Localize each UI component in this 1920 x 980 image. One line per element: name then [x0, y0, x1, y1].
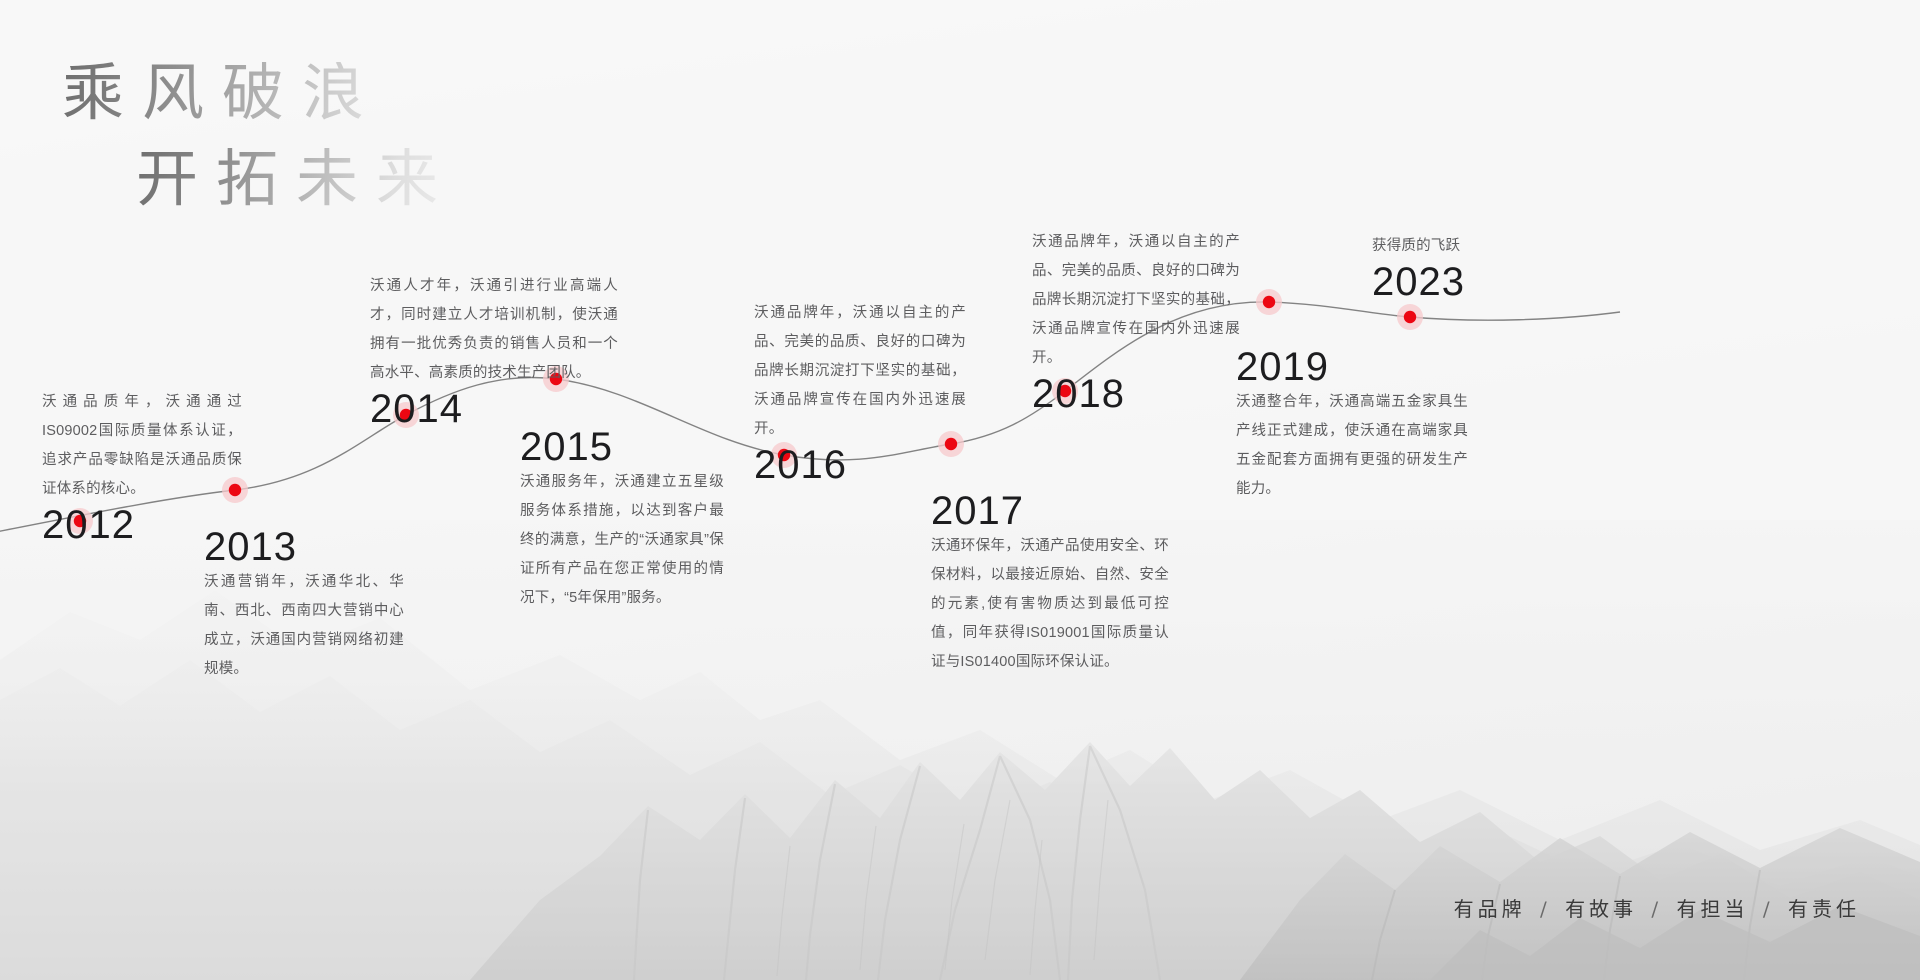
marker-dot[interactable]: [1263, 296, 1275, 308]
entry-description: 沃通服务年，沃通建立五星级服务体系措施，以达到客户最终的满意，生产的“沃通家具”…: [520, 468, 724, 613]
entry-description: 沃通营销年，沃通华北、华南、西北、西南四大营销中心成立，沃通国内营销网络初建规模…: [204, 568, 404, 684]
marker-dot[interactable]: [1404, 311, 1416, 323]
footer-slogan: 有品牌 / 有故事 / 有担当 / 有责任: [1454, 893, 1860, 922]
entry-description: 沃通整合年，沃通高端五金家具生产线正式建成，使沃通在高端家具五金配套方面拥有更强…: [1236, 388, 1468, 504]
timeline-entry-2019[interactable]: 2019沃通整合年，沃通高端五金家具生产线正式建成，使沃通在高端家具五金配套方面…: [1236, 340, 1468, 510]
entry-year-label: 2013: [204, 526, 404, 568]
entry-year-label: 2015: [520, 426, 724, 468]
slogan-separator-2: /: [1763, 897, 1774, 921]
page-title: 乘风破浪 开拓未来: [62, 62, 456, 210]
entry-description: 沃通品质年，沃通通过IS09002国际质量体系认证，追求产品零缺陷是沃通品质保证…: [42, 388, 242, 504]
entry-year-label: 2018: [1032, 373, 1240, 415]
timeline-entry-2018[interactable]: 沃通品牌年，沃通以自主的产品、完美的品质、良好的口碑为品牌长期沉淀打下坚实的基础…: [1032, 218, 1240, 415]
slogan-part-3: 有责任: [1788, 897, 1860, 921]
timeline-entry-2015[interactable]: 2015沃通服务年，沃通建立五星级服务体系措施，以达到客户最终的满意，生产的“沃…: [520, 420, 724, 619]
timeline-marker-2023[interactable]: [1397, 304, 1423, 330]
entry-year-label: 2023: [1372, 261, 1572, 303]
entry-description: 沃通人才年，沃通引进行业高端人才，同时建立人才培训机制，使沃通拥有一批优秀负责的…: [370, 272, 618, 388]
entry-year-label: 2016: [754, 444, 966, 486]
timeline-entry-2017[interactable]: 2017沃通环保年，沃通产品使用安全、环保材料，以最接近原始、自然、安全的元素,…: [931, 484, 1169, 683]
entry-description: 获得质的飞跃: [1372, 232, 1572, 261]
timeline-entry-2014[interactable]: 沃通人才年，沃通引进行业高端人才，同时建立人才培训机制，使沃通拥有一批优秀负责的…: [370, 262, 618, 430]
slogan-separator-1: /: [1651, 897, 1662, 921]
timeline-entry-2016[interactable]: 沃通品牌年，沃通以自主的产品、完美的品质、良好的口碑为品牌长期沉淀打下坚实的基础…: [754, 289, 966, 486]
entry-year-label: 2019: [1236, 346, 1468, 388]
slogan-part-1: 有故事: [1565, 897, 1637, 921]
slogan-part-2: 有担当: [1677, 897, 1749, 921]
page-title-line-1: 乘风破浪: [62, 62, 456, 124]
entry-year-label: 2017: [931, 490, 1169, 532]
timeline-poster: 乘风破浪 开拓未来 沃通品质年，沃通通过IS09002国际质量体系认证，追求产品…: [0, 0, 1920, 980]
entry-description: 沃通品牌年，沃通以自主的产品、完美的品质、良好的口碑为品牌长期沉淀打下坚实的基础…: [1032, 228, 1240, 373]
slogan-separator-0: /: [1540, 897, 1551, 921]
slogan-part-0: 有品牌: [1454, 897, 1526, 921]
timeline-marker-2019[interactable]: [1256, 289, 1282, 315]
entry-description: 沃通环保年，沃通产品使用安全、环保材料，以最接近原始、自然、安全的元素,使有害物…: [931, 532, 1169, 677]
entry-description: 沃通品牌年，沃通以自主的产品、完美的品质、良好的口碑为品牌长期沉淀打下坚实的基础…: [754, 299, 966, 444]
page-title-line-2: 开拓未来: [136, 148, 456, 210]
timeline-entry-2023[interactable]: 获得质的飞跃2023: [1372, 222, 1572, 303]
timeline-entry-2013[interactable]: 2013沃通营销年，沃通华北、华南、西北、西南四大营销中心成立，沃通国内营销网络…: [204, 520, 404, 690]
